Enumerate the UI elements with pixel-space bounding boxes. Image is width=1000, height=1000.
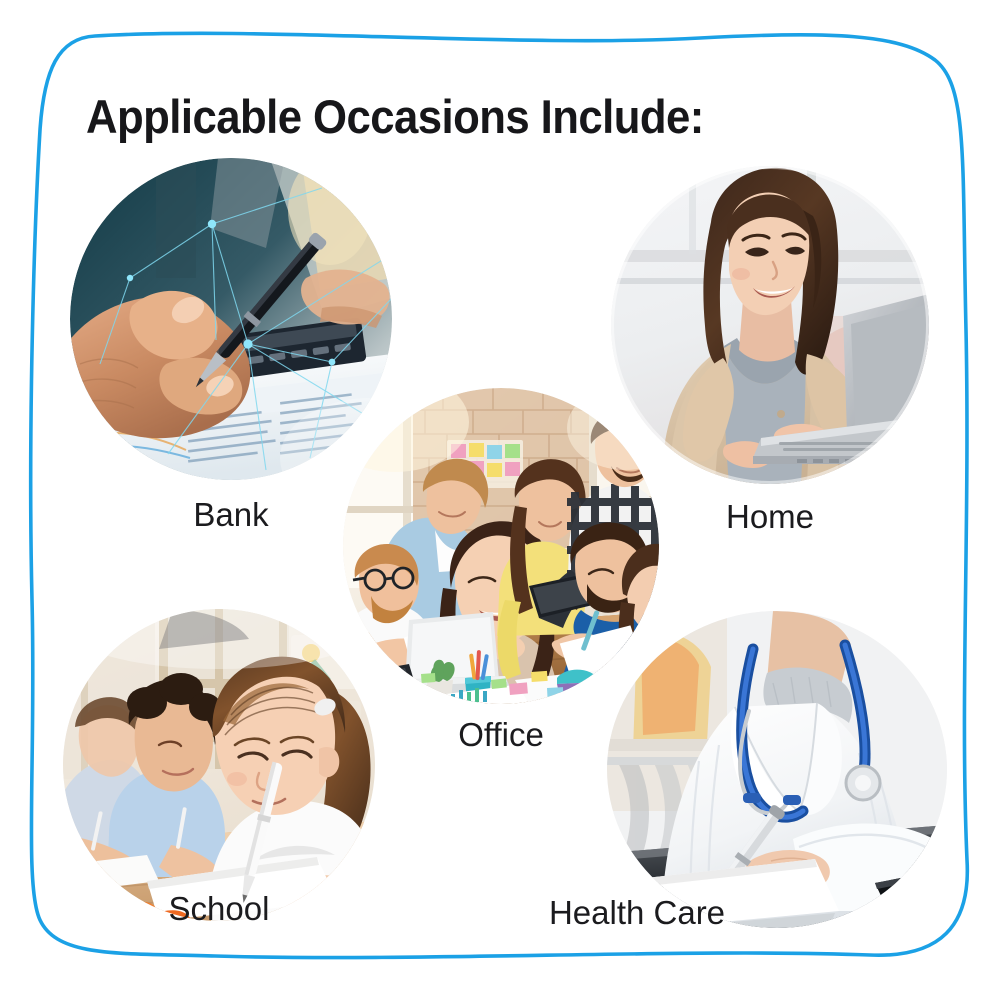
occasion-health-care-label: Health Care: [497, 896, 777, 929]
occasion-school-label: School: [104, 892, 334, 925]
applicable-occasions-infographic: Applicable Occasions Include:: [0, 0, 1000, 1000]
occasion-school-image: [63, 609, 375, 921]
occasion-office-image: [343, 388, 659, 704]
occasion-bank-image: [70, 158, 392, 480]
occasion-home-label: Home: [655, 500, 885, 533]
page-title: Applicable Occasions Include:: [86, 92, 704, 141]
occasion-bank-label: Bank: [116, 498, 346, 531]
occasion-office-label: Office: [386, 718, 616, 751]
occasion-home-image: [611, 166, 929, 484]
occasion-health-care-image: [607, 611, 947, 928]
